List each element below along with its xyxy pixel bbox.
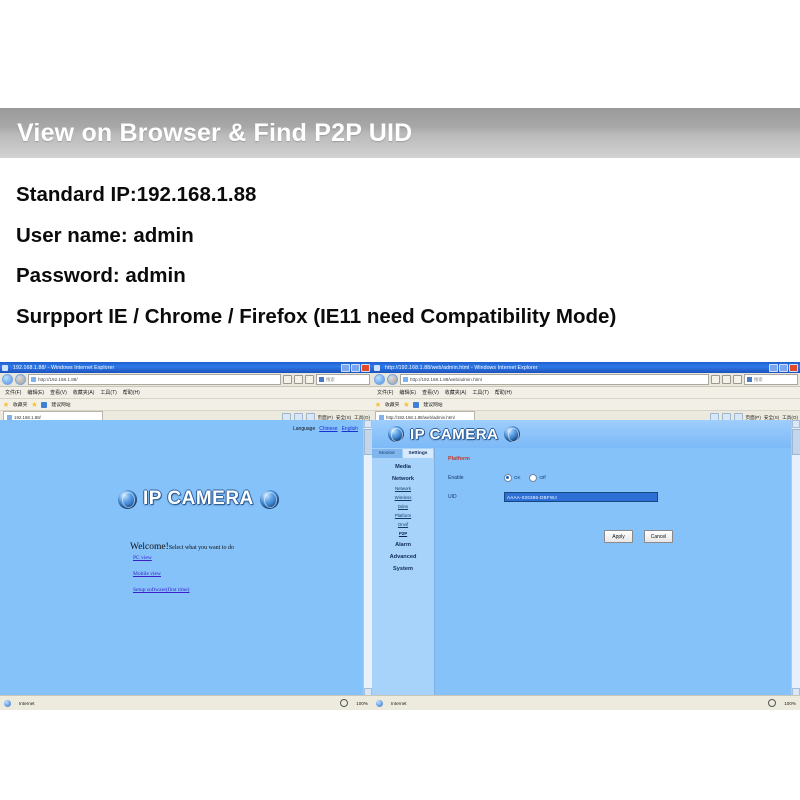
address-input-right[interactable]: http://192.168.1.88/web/admin.html [400,374,709,385]
menu-item-help-right[interactable]: 帮助(H) [495,389,512,396]
apply-button[interactable]: Apply [604,530,633,543]
sidebar-subitem-wireless[interactable]: Wireless [372,495,434,500]
page-viewport-right: IP CAMERA Monitor Settings Media Network… [372,420,800,696]
search-icon [319,377,324,382]
stop-icon-right[interactable] [733,375,742,384]
address-url-right: http://192.168.1.88/web/admin.html [410,377,482,382]
address-tools-right: 搜索 [711,374,798,385]
menu-item-favorites[interactable]: 收藏夹(A) [73,389,95,396]
menu-item-file-right[interactable]: 文件(F) [377,389,393,396]
search-icon-right [747,377,752,382]
search-placeholder-left: 搜索 [326,377,335,383]
radio-on-icon [504,474,512,482]
search-input-right[interactable]: 搜索 [744,374,798,385]
link-pc-view[interactable]: PC view [133,555,190,561]
minimize-button-right[interactable] [769,364,778,372]
status-zoom-left[interactable]: 100% [356,701,368,706]
screenshot-strip: 192.168.1.88/ - Windows Internet Explore… [0,362,800,710]
enable-label: Enable [448,475,504,481]
zoom-icon[interactable] [340,699,348,707]
chevron-down-icon-right[interactable] [711,375,720,384]
star-icon-right[interactable] [375,402,381,408]
uid-row: UID AAAA-026386-DBFWJ [448,492,658,502]
sidebar-item-system[interactable]: System [372,566,434,572]
chevron-down-icon[interactable] [283,375,292,384]
address-input-left[interactable]: http://192.168.1.88/ [28,374,281,385]
sidebar-subitem-p2p[interactable]: P2P [372,531,434,536]
language-label: Language [293,426,315,432]
star-add-icon-right[interactable] [403,402,409,408]
sidebar-subitem-network[interactable]: Network [372,486,434,491]
page-title: View on Browser & Find P2P UID [0,119,412,148]
menu-item-edit[interactable]: 编辑(E) [27,389,44,396]
status-zone-left: Internet [19,701,35,706]
menu-item-file[interactable]: 文件(F) [5,389,21,396]
sidebar-item-alarm[interactable]: Alarm [372,542,434,548]
language-link-english[interactable]: English [342,426,358,432]
menu-item-view-right[interactable]: 查看(V) [422,389,439,396]
favorites-label-right[interactable]: 收藏夹 [385,401,399,408]
menu-item-favorites-right[interactable]: 收藏夹(A) [445,389,467,396]
suggested-sites-icon-right[interactable] [413,402,419,408]
enable-row: Enable On Off [448,474,555,482]
ie-app-icon-right [374,365,380,371]
status-zone-right: Internet [391,701,407,706]
star-icon[interactable] [3,402,9,408]
ie-address-bar-right: http://192.168.1.88/web/admin.html 搜索 [372,373,800,387]
slide-header-bar: View on Browser & Find P2P UID [0,108,800,158]
ie-titlebar-left: 192.168.1.88/ - Windows Internet Explore… [0,362,372,373]
refresh-icon[interactable] [294,375,303,384]
ie-window-title-left: 192.168.1.88/ - Windows Internet Explore… [10,365,114,371]
stop-icon[interactable] [305,375,314,384]
ie-favorites-bar-left: 收藏夹 建议网站 [0,399,372,411]
address-tools-left: 搜索 [283,374,370,385]
zone-globe-icon-right [376,700,383,707]
back-icon[interactable] [2,374,13,385]
settings-sidebar: Monitor Settings Media Network Network W… [372,448,435,696]
sidebar-subitem-platform[interactable]: Platform [372,513,434,518]
info-line-username: User name: admin [16,226,786,247]
cancel-button[interactable]: Cancel [644,530,673,543]
globe-icon [118,490,137,509]
close-icon-right[interactable] [789,364,798,372]
ie-menubar-right: 文件(F) 编辑(E) 查看(V) 收藏夹(A) 工具(T) 帮助(H) [372,387,800,399]
radio-on-label: On [514,476,520,481]
radio-off-icon [529,474,537,482]
ie-window-title-right: http://192.168.1.88/web/admin.html - Win… [382,365,538,371]
language-link-chinese[interactable]: Chinese [319,426,337,432]
welcome-text: Welcome!Select what you want to do [130,536,234,554]
uid-value: AAAA-026386-DBFWJ [507,495,557,500]
ip-camera-logo-text-right: IP CAMERA [410,426,498,443]
vertical-scrollbar-left[interactable] [363,420,372,696]
zone-globe-icon [4,700,11,707]
maximize-button-right[interactable] [779,364,788,372]
ie-app-icon [2,365,8,371]
globe-icon-2 [260,490,279,509]
ie-window-left: 192.168.1.88/ - Windows Internet Explore… [0,362,372,710]
action-links: PC view Mobile view Setup software(first… [133,555,190,603]
page-viewport-left: Language Chinese English IP CAMERA Welco… [0,420,372,696]
zoom-icon-right[interactable] [768,699,776,707]
welcome-rest: Select what you want to do [169,545,234,551]
welcome-strong: Welcome! [130,542,169,552]
favorites-label-left[interactable]: 收藏夹 [13,401,27,408]
page-icon-right [403,377,408,382]
star-add-icon[interactable] [31,402,37,408]
sidebar-tabs: Monitor Settings [372,449,434,458]
search-placeholder-right: 搜索 [754,377,763,383]
sidebar-subitem-ddns[interactable]: Ddns [372,504,434,509]
status-zoom-right[interactable]: 100% [784,701,796,706]
maximize-button[interactable] [351,364,360,372]
info-line-password: Password: admin [16,266,786,287]
sidebar-item-advanced[interactable]: Advanced [372,554,434,560]
link-setup-software[interactable]: Setup software(first time) [133,587,190,593]
scrollbar-thumb[interactable] [364,429,372,455]
menu-item-help[interactable]: 帮助(H) [123,389,140,396]
suggested-sites-icon[interactable] [41,402,47,408]
refresh-icon-right[interactable] [722,375,731,384]
back-icon-right[interactable] [374,374,385,385]
uid-input[interactable]: AAAA-026386-DBFWJ [504,492,658,502]
ie-titlebar-right: http://192.168.1.88/web/admin.html - Win… [372,362,800,373]
radio-off-label: Off [539,476,545,481]
sidebar-item-network[interactable]: Network [372,476,434,482]
radio-enable-on[interactable]: On [504,474,520,482]
scroll-up-icon-right[interactable] [792,420,800,428]
sidebar-item-media[interactable]: Media [372,464,434,470]
tab-monitor[interactable]: Monitor [372,449,403,458]
scrollbar-thumb-right[interactable] [792,429,800,455]
ie-statusbar-right: Internet 100% [372,695,800,710]
link-mobile-view[interactable]: Mobile view [133,571,190,577]
ip-camera-logo-text-left: IP CAMERA [143,488,254,510]
suggested-sites-label-left[interactable]: 建议网站 [51,401,70,408]
menu-item-view[interactable]: 查看(V) [50,389,67,396]
menu-item-edit-right[interactable]: 编辑(E) [399,389,416,396]
window-controls-left[interactable] [341,364,370,372]
address-url-left: http://192.168.1.88/ [38,377,78,382]
page-icon [31,377,36,382]
ip-camera-logo-right: IP CAMERA [372,420,792,448]
platform-settings-panel: Platform Enable On Off UID AAAA-02 [434,448,792,696]
panel-title: Platform [448,456,470,462]
ie-window-right: http://192.168.1.88/web/admin.html - Win… [372,362,800,710]
ie-statusbar-left: Internet 100% [0,695,372,710]
panel-button-row: Apply Cancel [604,530,673,543]
ie-address-bar-left: http://192.168.1.88/ 搜索 [0,373,372,387]
language-selector: Language Chinese English [293,426,358,432]
ie-favorites-bar-right: 收藏夹 建议网站 [372,399,800,411]
info-text-block: Standard IP:192.168.1.88 User name: admi… [16,185,786,347]
window-controls-right[interactable] [769,364,798,372]
forward-icon-right[interactable] [387,374,398,385]
forward-icon[interactable] [15,374,26,385]
vertical-scrollbar-right[interactable] [791,420,800,696]
ip-camera-logo-left: IP CAMERA [118,488,279,510]
ie-menubar-left: 文件(F) 编辑(E) 查看(V) 收藏夹(A) 工具(T) 帮助(H) [0,387,372,399]
tab-settings[interactable]: Settings [403,449,434,458]
scroll-up-icon[interactable] [364,420,372,428]
info-line-browser-support: Surpport IE / Chrome / Firefox (IE11 nee… [16,307,786,328]
sidebar-subitem-onvif[interactable]: Onvif [372,522,434,527]
suggested-sites-label-right[interactable]: 建议网站 [423,401,442,408]
close-icon[interactable] [361,364,370,372]
info-line-standard-ip: Standard IP:192.168.1.88 [16,185,786,206]
globe-icon-right-2 [504,426,520,442]
globe-icon-right [388,426,404,442]
menu-item-tools-right[interactable]: 工具(T) [472,389,488,396]
uid-label: UID [448,494,504,500]
search-input-left[interactable]: 搜索 [316,374,370,385]
minimize-button[interactable] [341,364,350,372]
menu-item-tools[interactable]: 工具(T) [100,389,116,396]
radio-enable-off[interactable]: Off [529,474,545,482]
